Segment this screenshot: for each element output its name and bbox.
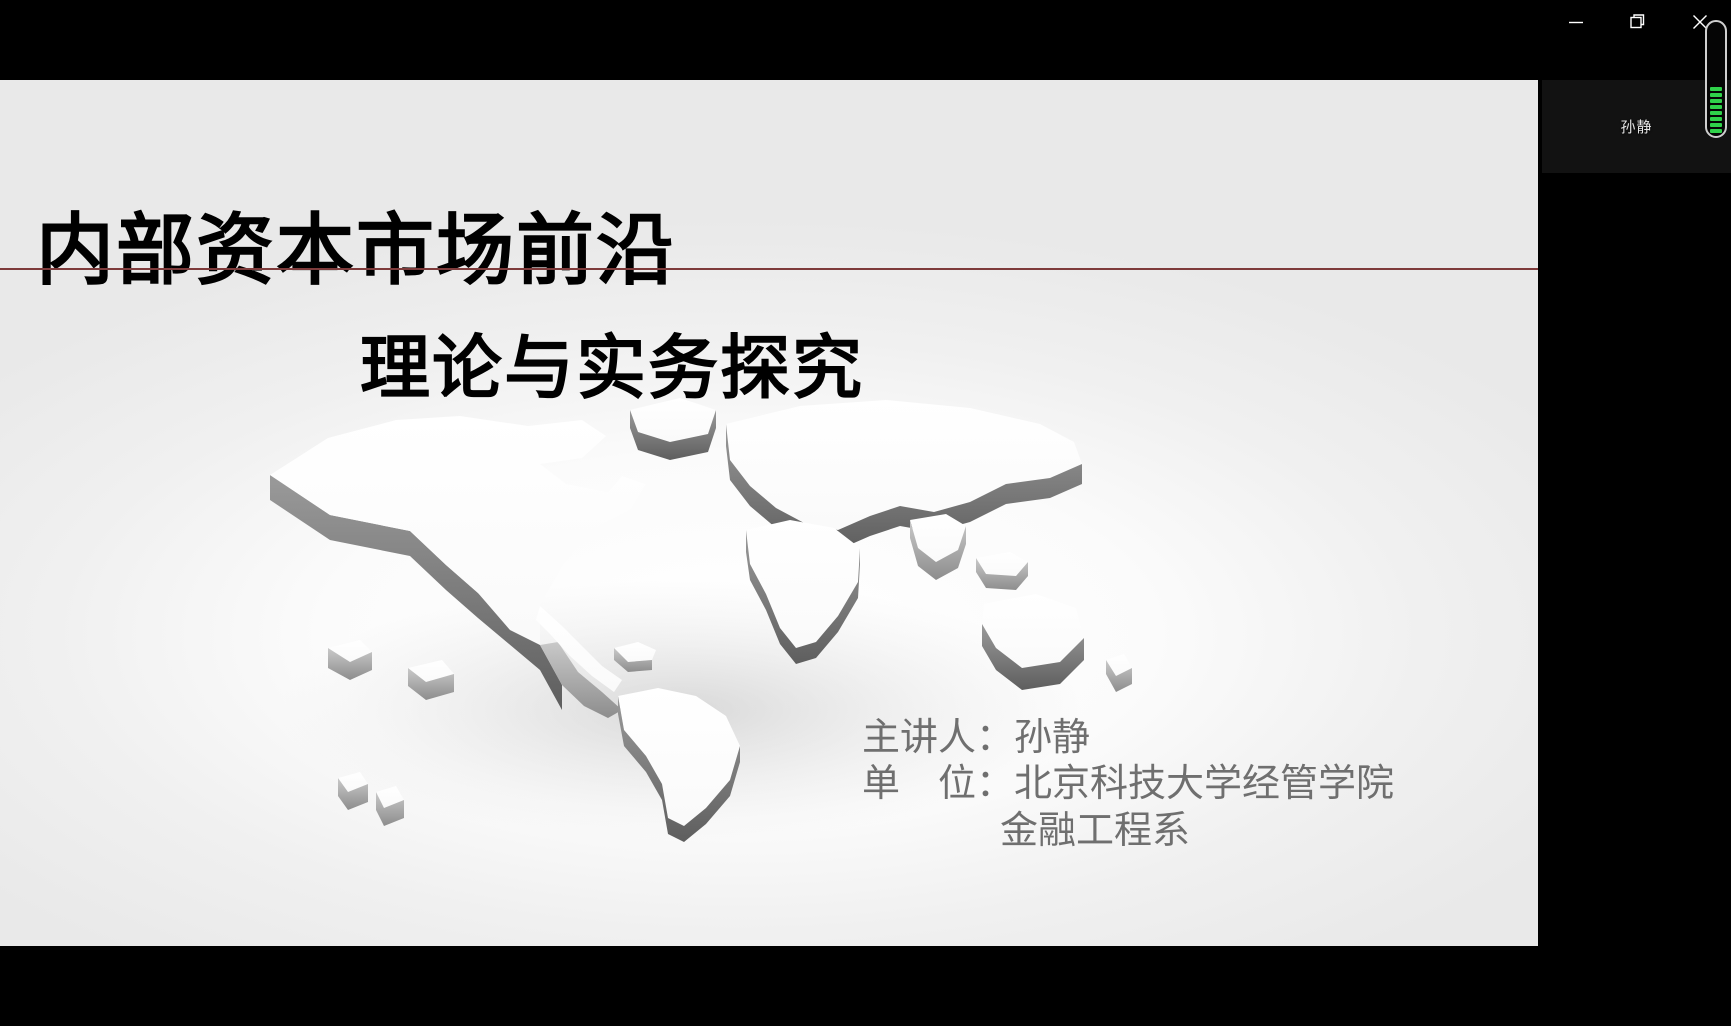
audio-level-segment (1710, 129, 1722, 133)
presenter-info-block: 主讲人：孙静 单 位：北京科技大学经管学院 金融工程系 (862, 715, 1394, 854)
minimize-icon (1565, 11, 1587, 33)
slide-title-line-1: 内部资本市场前沿 (36, 210, 676, 292)
app-root: 内部资本市场前沿 理论与实务探究 主讲人：孙静 单 位：北京科技大学经管学院 金… (0, 0, 1731, 1026)
audio-level-segment (1710, 117, 1722, 121)
audio-level-segment (1710, 63, 1722, 67)
audio-level-segment (1710, 75, 1722, 79)
audio-level-segment (1710, 45, 1722, 49)
presenter-department-line: 金融工程系 (862, 808, 1394, 854)
audio-level-segment (1710, 99, 1722, 103)
presenter-speaker-line: 主讲人：孙静 (862, 715, 1394, 761)
audio-level-segment (1710, 123, 1722, 127)
participant-video-panel: 孙静 (1538, 80, 1731, 1026)
audio-level-segment (1710, 57, 1722, 61)
audio-level-segment (1710, 69, 1722, 73)
restore-icon (1627, 11, 1649, 33)
restore-button[interactable] (1607, 1, 1669, 43)
audio-level-segment (1710, 93, 1722, 97)
shared-slide[interactable]: 内部资本市场前沿 理论与实务探究 主讲人：孙静 单 位：北京科技大学经管学院 金… (0, 80, 1538, 946)
title-divider-rule (0, 268, 1538, 270)
audio-level-segment (1710, 111, 1722, 115)
audio-level-segment (1710, 51, 1722, 55)
audio-level-meter (1705, 20, 1727, 138)
window-controls (1545, 0, 1731, 44)
minimize-button[interactable] (1545, 1, 1607, 43)
window-titlebar (0, 0, 1731, 80)
audio-level-segment (1710, 33, 1722, 37)
audio-level-segment (1710, 87, 1722, 91)
presenter-affiliation-line: 单 位：北京科技大学经管学院 (862, 761, 1394, 807)
audio-level-segment (1710, 27, 1722, 31)
audio-level-segment (1710, 39, 1722, 43)
audio-level-segment (1710, 81, 1722, 85)
participant-video-tile[interactable]: 孙静 (1542, 80, 1731, 173)
audio-level-segment (1710, 105, 1722, 109)
participant-name-label: 孙静 (1620, 116, 1652, 137)
slide-title-line-2: 理论与实务探究 (360, 332, 864, 406)
